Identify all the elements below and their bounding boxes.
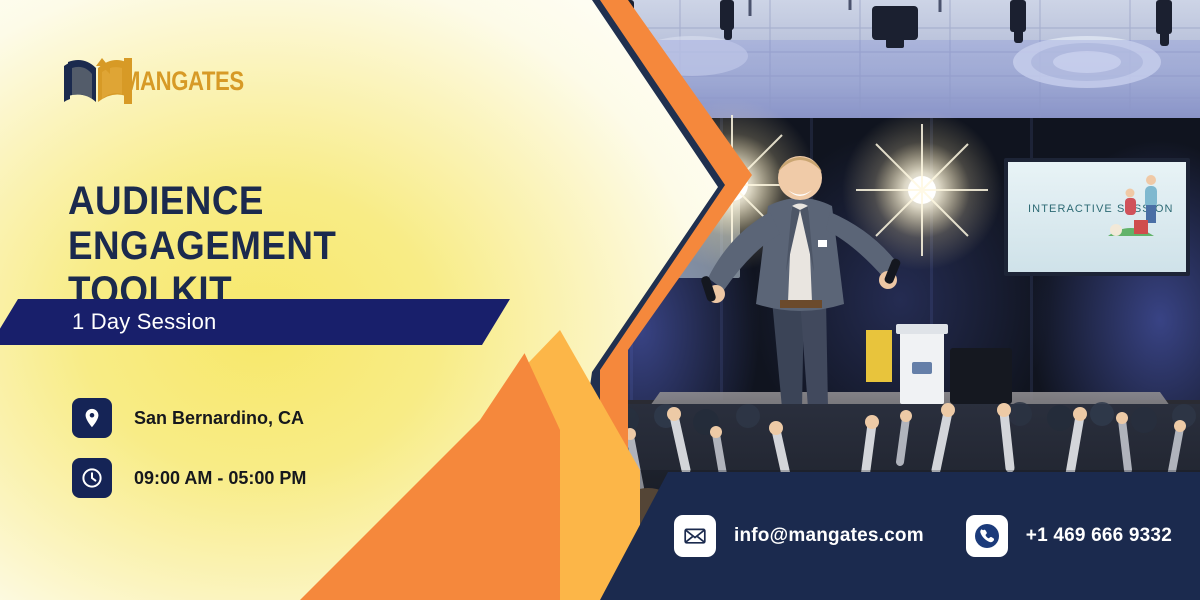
map-pin-icon: [72, 398, 112, 438]
event-title: AUDIENCE ENGAGEMENT TOOLKIT: [68, 179, 500, 315]
time-text: 09:00 AM - 05:00 PM: [134, 468, 306, 489]
lectern: [896, 324, 948, 404]
envelope-icon: [674, 515, 716, 557]
phone-icon: [966, 515, 1008, 557]
email-text: info@mangates.com: [734, 525, 924, 547]
location-row: San Bernardino, CA: [72, 398, 304, 438]
event-banner: INTERACTIVE SESSION: [0, 0, 1200, 600]
clock-icon: [72, 458, 112, 498]
contact-items: info@mangates.com +1 469 666 9332: [660, 472, 1200, 600]
phone-contact[interactable]: +1 469 666 9332: [966, 515, 1172, 557]
phone-text: +1 469 666 9332: [1026, 525, 1172, 547]
brand-name: MANGATES: [122, 66, 244, 97]
projection-screen: INTERACTIVE SESSION: [1004, 158, 1190, 276]
email-contact[interactable]: info@mangates.com: [674, 515, 924, 557]
brand-logo[interactable]: MANGATES: [62, 52, 271, 110]
session-label: 1 Day Session: [0, 309, 216, 335]
time-row: 09:00 AM - 05:00 PM: [72, 458, 306, 498]
location-text: San Bernardino, CA: [134, 408, 304, 429]
session-ribbon: 1 Day Session: [0, 299, 510, 345]
